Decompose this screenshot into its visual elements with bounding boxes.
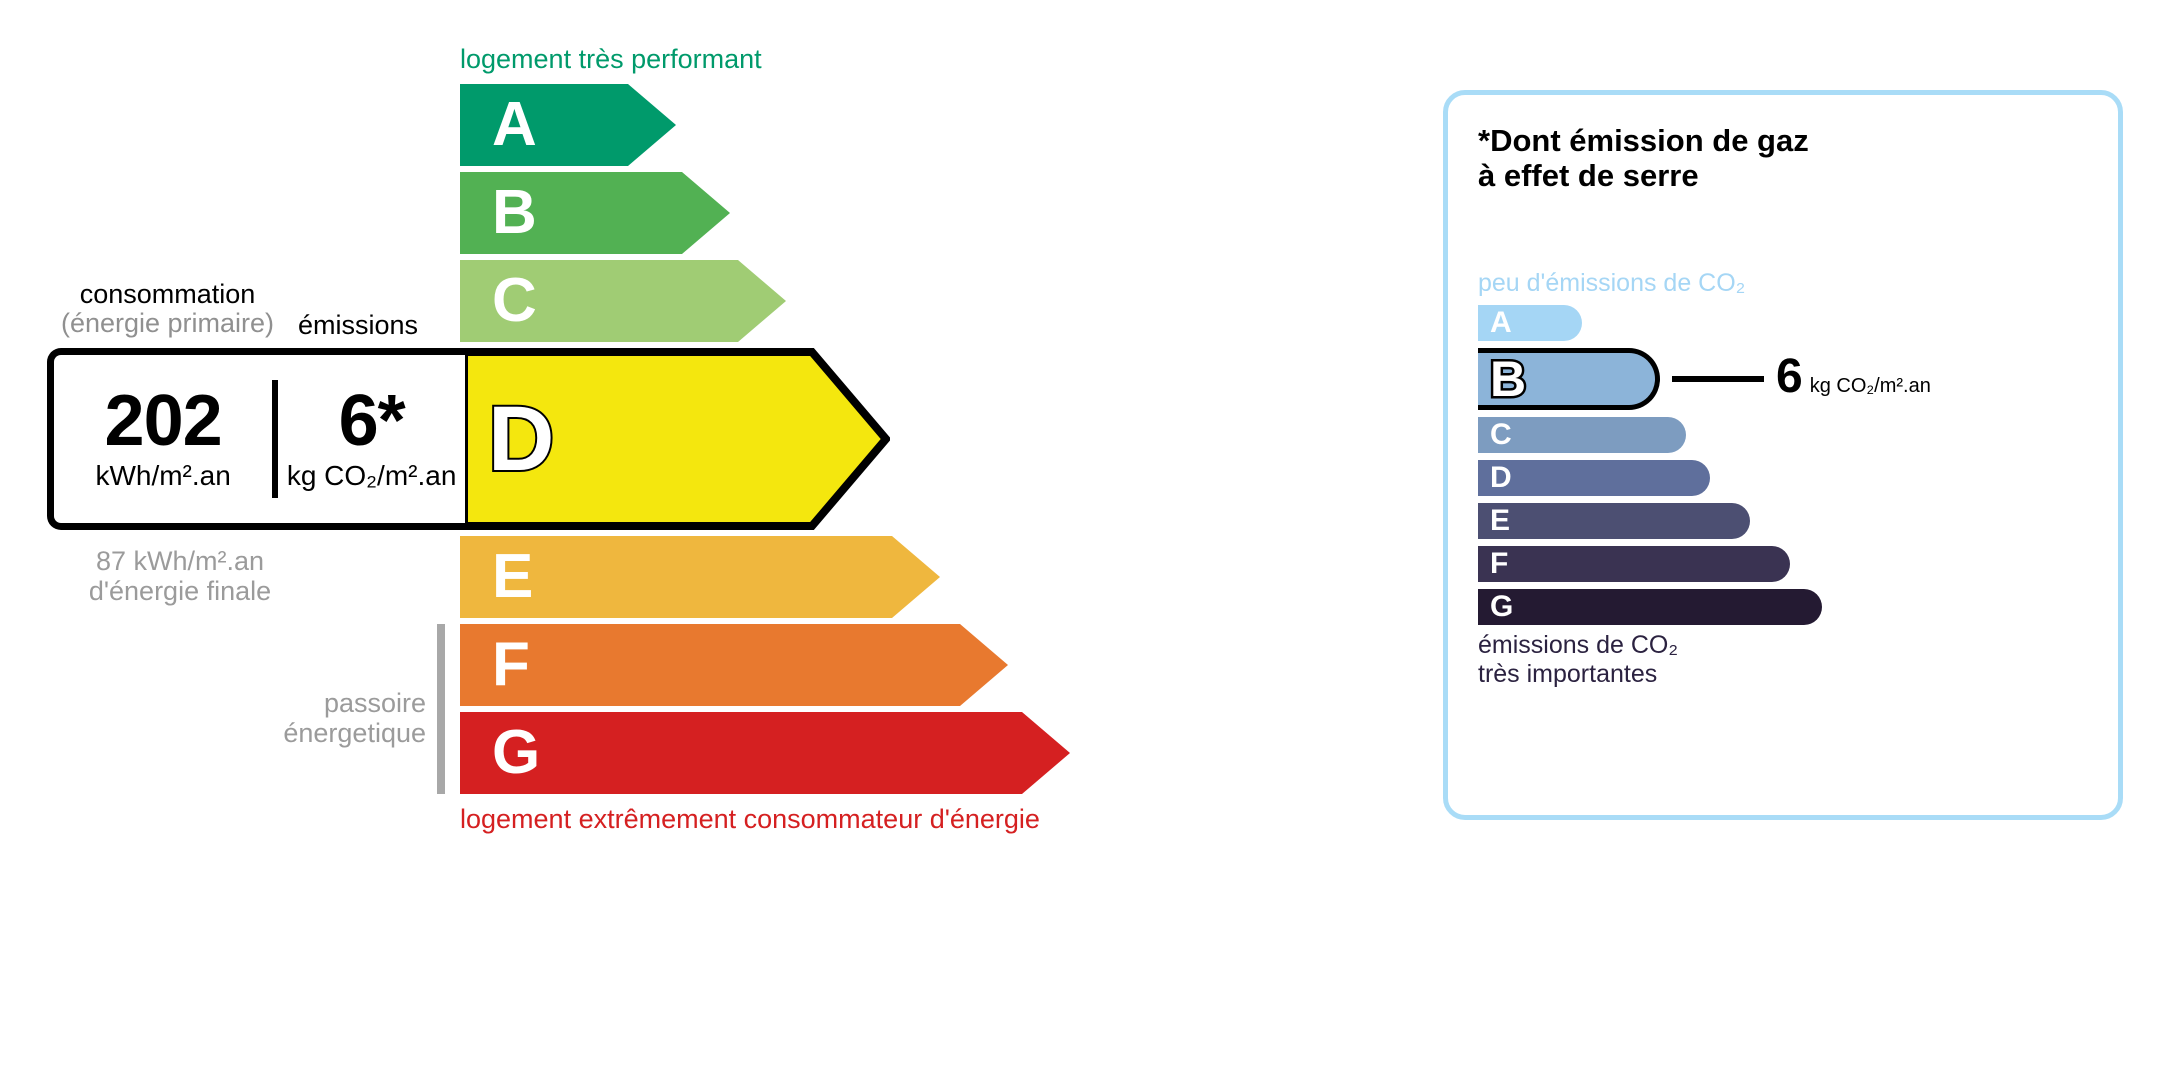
ghg-bar-shape-g <box>1478 589 1822 625</box>
ghg-class-letter-e: E <box>1490 506 1510 536</box>
ghg-class-letter-a: A <box>1490 308 1512 338</box>
energy-class-arrow-e[interactable]: E <box>460 536 940 618</box>
energy-performance-scale: logement très performant ABCDEFG consomm… <box>0 0 1400 1079</box>
energy-class-letter-f: F <box>492 634 530 696</box>
passoire-bracket <box>437 624 445 794</box>
energy-class-letter-g: G <box>492 722 540 784</box>
consumption-unit: kWh/m².an <box>60 460 266 492</box>
emissions-header: émissions <box>298 311 458 340</box>
ghg-emissions-panel: *Dont émission de gazà effet de serre pe… <box>1443 90 2123 820</box>
ghg-class-letter-f: F <box>1490 549 1508 579</box>
ghg-bottom-caption: émissions de CO₂très importantes <box>1478 631 1678 688</box>
ghg-bar-shape-f <box>1478 546 1790 582</box>
final-energy-note: 87 kWh/m².and'énergie finale <box>55 546 305 606</box>
energy-class-arrow-g[interactable]: G <box>460 712 1070 794</box>
consumption-header: consommation (énergie primaire) <box>60 280 275 338</box>
energy-class-arrow-b[interactable]: B <box>460 172 730 254</box>
ghg-class-bar-b[interactable]: B <box>1478 348 1660 410</box>
ghg-top-caption: peu d'émissions de CO₂ <box>1478 269 1745 298</box>
energy-class-arrow-d[interactable]: D <box>460 348 890 530</box>
passoire-label: passoireénergetique <box>230 688 426 748</box>
emissions-cell: 6* kg CO₂/m².an <box>278 386 465 493</box>
selected-value-box: 202 kWh/m².an 6* kg CO₂/m².an <box>47 348 465 530</box>
consumption-cell: 202 kWh/m².an <box>54 386 272 493</box>
ghg-value: 6 <box>1776 353 1803 401</box>
ghg-value-unit: kg CO₂/m².an <box>1810 375 1931 398</box>
ghg-class-letter-g: G <box>1490 592 1513 622</box>
ghg-class-bar-g[interactable]: G <box>1478 589 1822 625</box>
emissions-unit: kg CO₂/m².an <box>284 460 459 492</box>
energy-class-arrow-c[interactable]: C <box>460 260 786 342</box>
scale-top-caption: logement très performant <box>460 44 762 75</box>
energy-class-arrow-a[interactable]: A <box>460 84 676 166</box>
ghg-value-callout: 6 kg CO₂/m².an <box>1776 353 1931 401</box>
consumption-value: 202 <box>60 386 266 457</box>
consumption-header-sub: (énergie primaire) <box>60 309 275 338</box>
energy-class-letter-b: B <box>492 182 537 244</box>
ghg-panel-title: *Dont émission de gazà effet de serre <box>1478 123 1809 194</box>
ghg-class-letter-b: B <box>1490 354 1526 404</box>
ghg-class-bar-c[interactable]: C <box>1478 417 1686 453</box>
ghg-class-bar-f[interactable]: F <box>1478 546 1790 582</box>
ghg-class-letter-c: C <box>1490 420 1512 450</box>
energy-class-letter-e: E <box>492 546 533 608</box>
energy-class-arrow-f[interactable]: F <box>460 624 1008 706</box>
emissions-value: 6* <box>284 386 459 457</box>
ghg-leader-line <box>1672 376 1764 382</box>
ghg-class-bar-d[interactable]: D <box>1478 460 1710 496</box>
ghg-class-letter-d: D <box>1490 463 1512 493</box>
consumption-header-main: consommation <box>80 279 256 309</box>
energy-class-letter-a: A <box>492 94 537 156</box>
arrow-shape-f <box>460 624 1008 706</box>
scale-bottom-caption: logement extrêmement consommateur d'éner… <box>460 804 1040 835</box>
energy-class-letter-c: C <box>492 270 537 332</box>
ghg-class-bar-a[interactable]: A <box>1478 305 1582 341</box>
ghg-bar-shape-e <box>1478 503 1750 539</box>
energy-class-letter-d: D <box>488 393 554 485</box>
ghg-bar-shape-d <box>1478 460 1710 496</box>
arrow-shape-g <box>460 712 1070 794</box>
ghg-class-bar-e[interactable]: E <box>1478 503 1750 539</box>
